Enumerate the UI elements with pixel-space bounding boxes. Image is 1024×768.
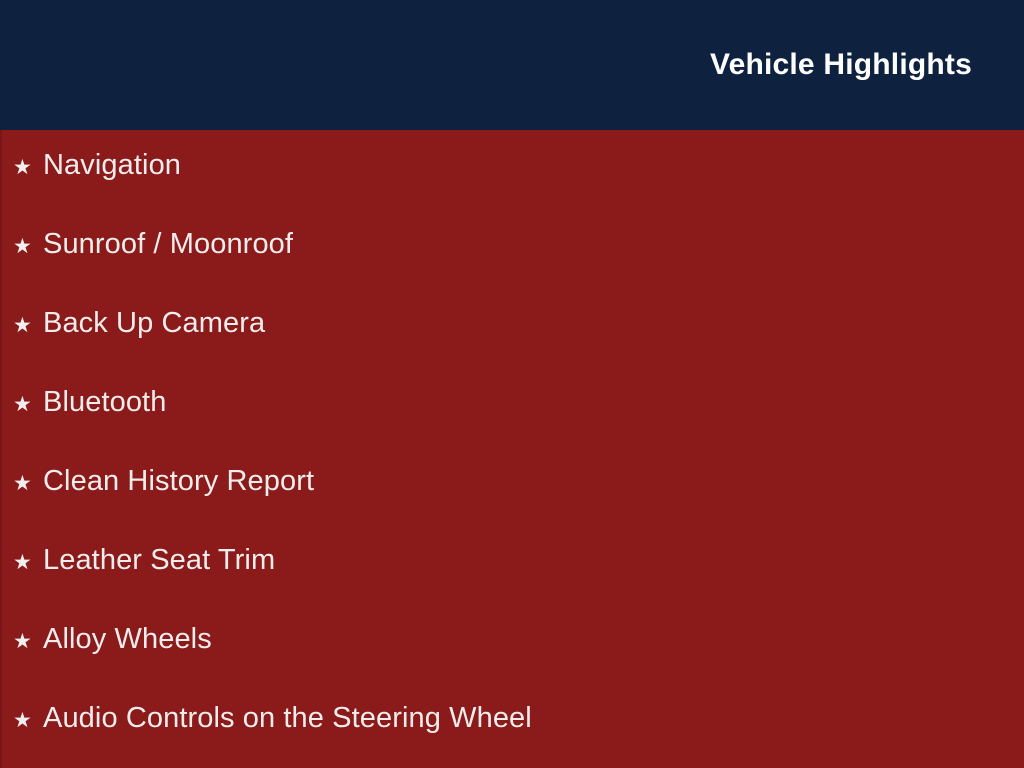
list-item: ★ Back Up Camera	[0, 309, 1024, 388]
star-icon: ★	[13, 631, 43, 652]
list-item: ★ Sunroof / Moonroof	[0, 230, 1024, 309]
star-icon: ★	[13, 236, 43, 257]
star-icon: ★	[13, 552, 43, 573]
highlight-label: Navigation	[43, 151, 181, 180]
list-item: ★ Clean History Report	[0, 467, 1024, 546]
highlight-label: Leather Seat Trim	[43, 546, 275, 575]
highlight-label: Bluetooth	[43, 388, 166, 417]
star-icon: ★	[13, 473, 43, 494]
vehicle-highlights-slide: Vehicle Highlights ★ Navigation ★ Sunroo…	[0, 0, 1024, 768]
highlight-label: Sunroof / Moonroof	[43, 230, 293, 259]
highlight-label: Clean History Report	[43, 467, 314, 496]
list-item: ★ Bluetooth	[0, 388, 1024, 467]
list-item: ★ Navigation	[0, 151, 1024, 230]
highlight-label: Audio Controls on the Steering Wheel	[43, 704, 532, 733]
highlight-label: Alloy Wheels	[43, 625, 212, 654]
list-item: ★ Leather Seat Trim	[0, 546, 1024, 625]
star-icon: ★	[13, 157, 43, 178]
list-item: ★ Audio Controls on the Steering Wheel	[0, 704, 1024, 768]
page-title: Vehicle Highlights	[710, 50, 972, 80]
star-icon: ★	[13, 710, 43, 731]
star-icon: ★	[13, 315, 43, 336]
highlight-label: Back Up Camera	[43, 309, 265, 338]
vehicle-highlights-list: ★ Navigation ★ Sunroof / Moonroof ★ Back…	[0, 130, 1024, 768]
star-icon: ★	[13, 394, 43, 415]
slide-header: Vehicle Highlights	[0, 0, 1024, 130]
list-item: ★ Alloy Wheels	[0, 625, 1024, 704]
